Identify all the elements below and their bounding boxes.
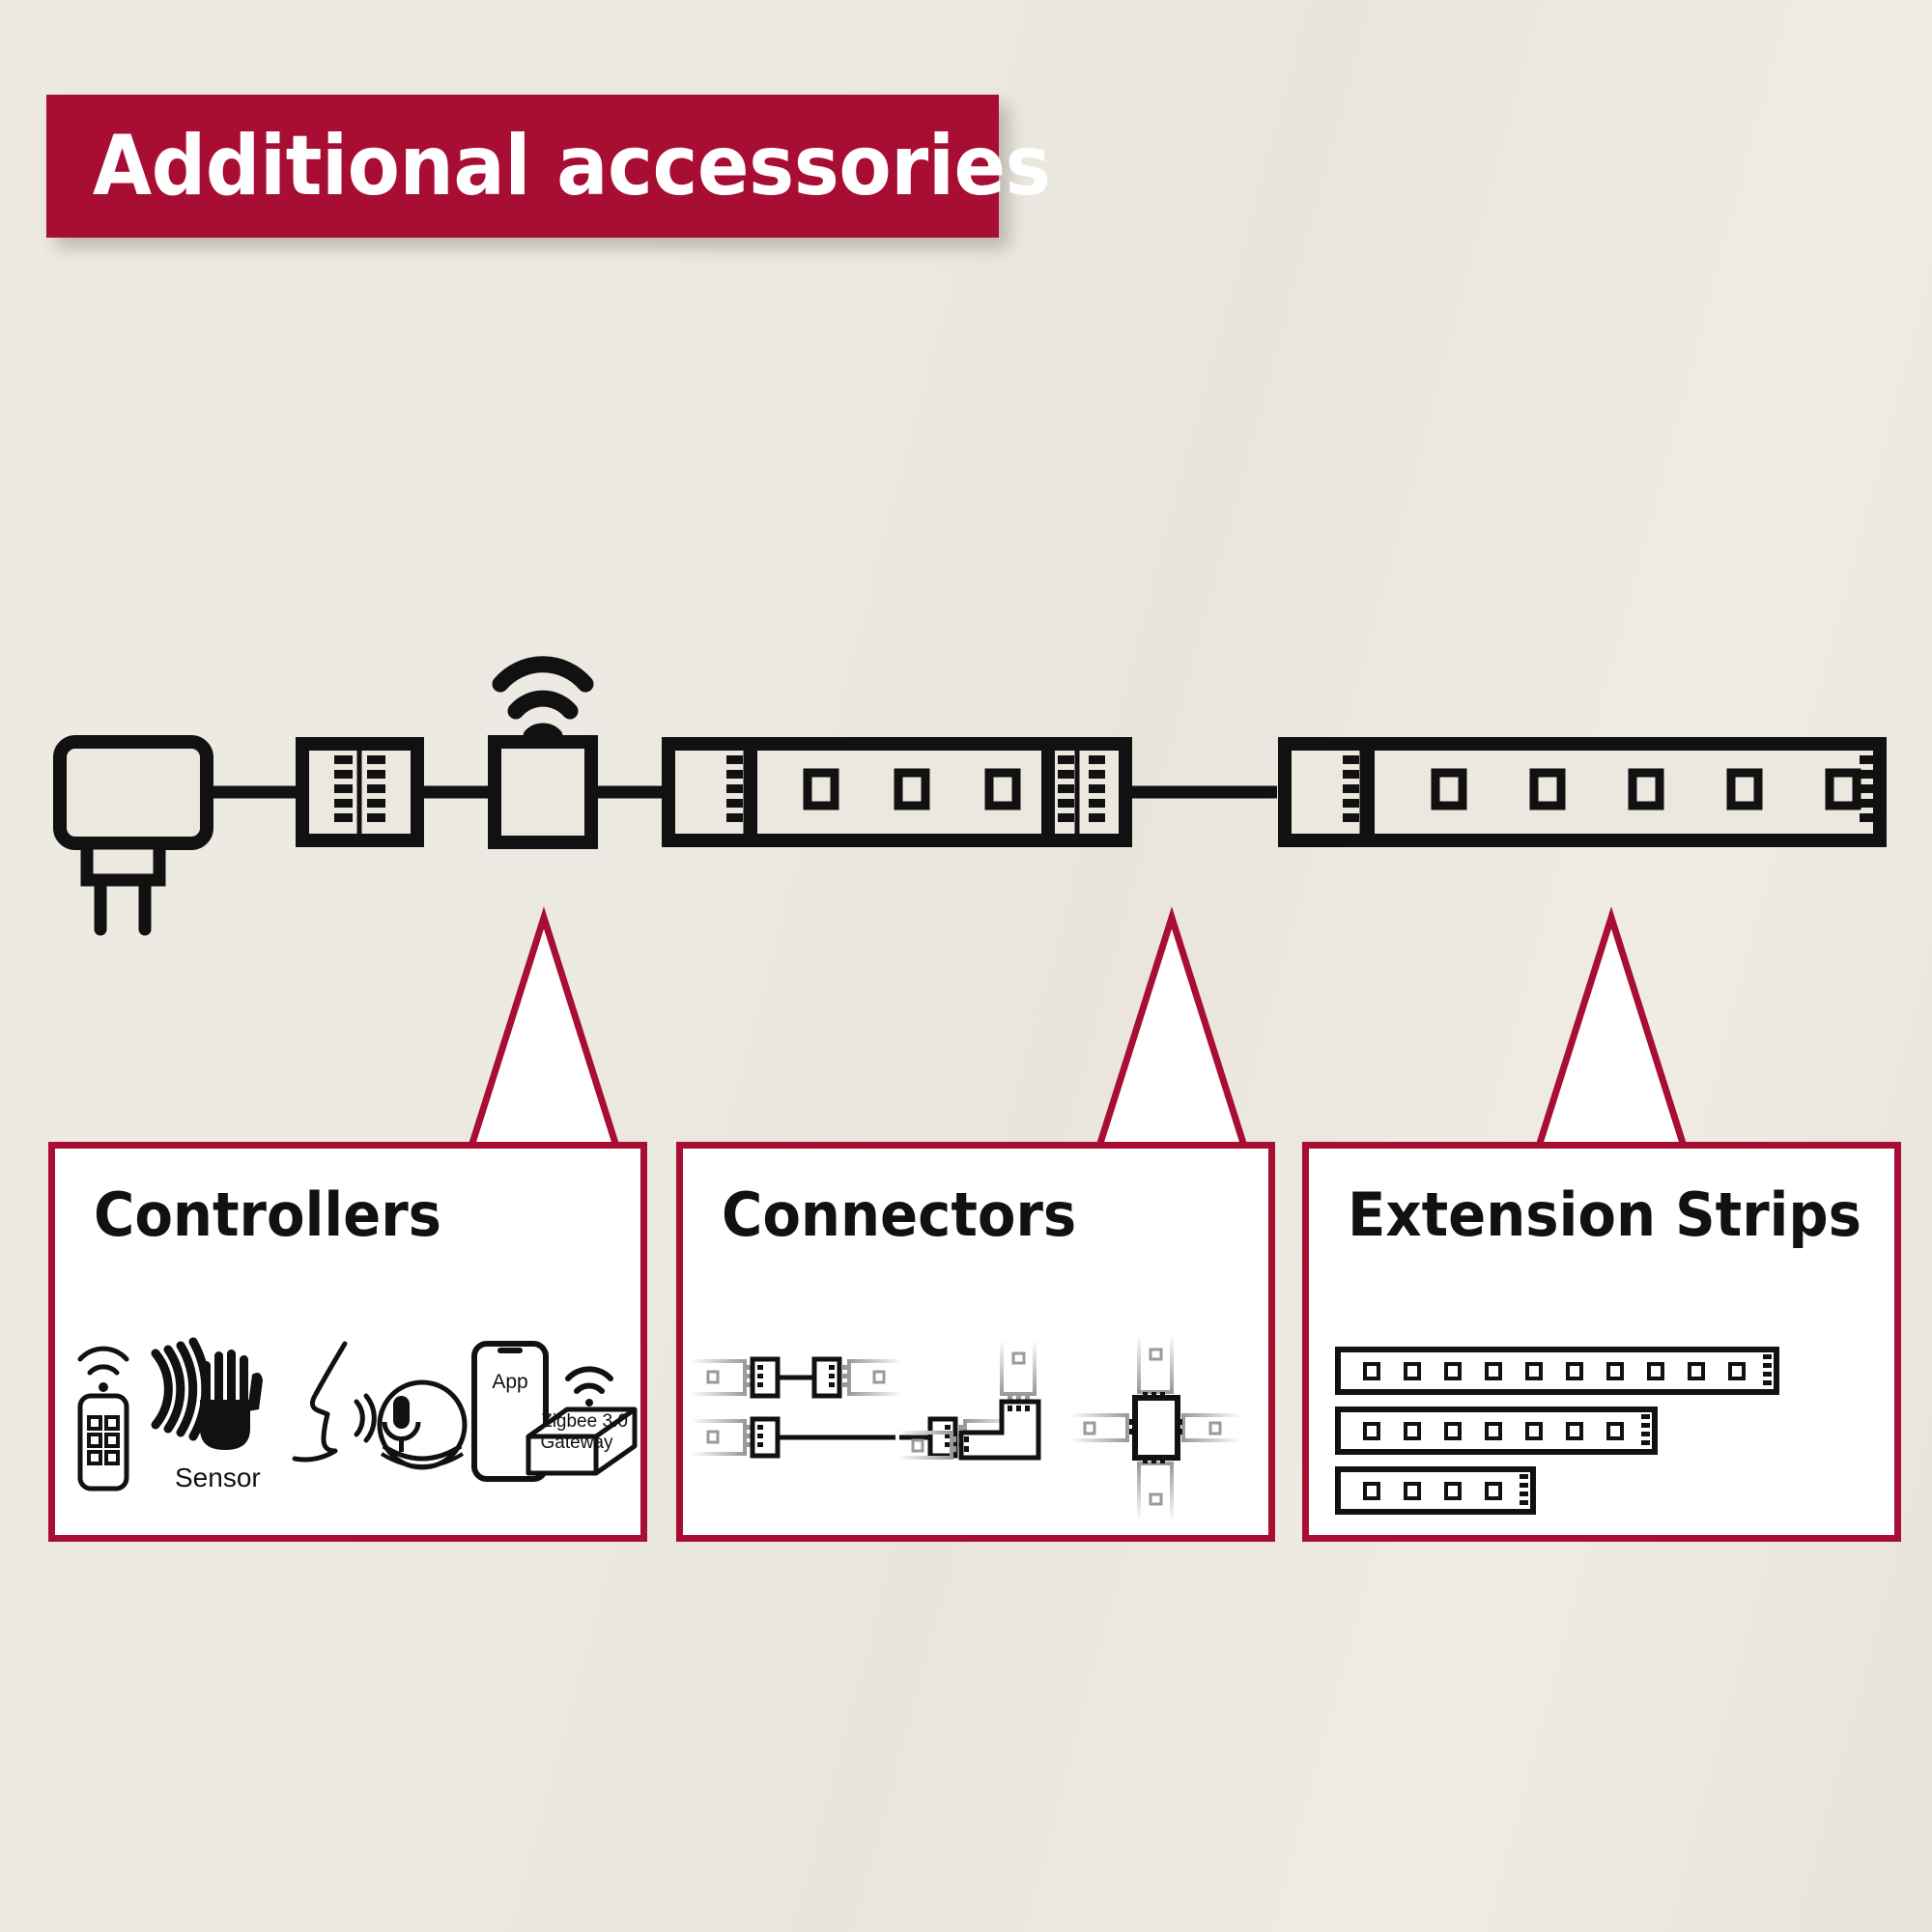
hand-icon: [200, 1350, 263, 1450]
callout-connectors[interactable]: Connectors: [676, 1142, 1275, 1542]
corner-l-connector-icon: [897, 1340, 1038, 1458]
callout-title-controllers: Controllers: [94, 1179, 441, 1250]
zigbee-line1: Zigbee 3.0: [541, 1411, 628, 1432]
callout-extension-strips[interactable]: Extension Strips: [1302, 1142, 1901, 1542]
strip-connector-1-icon: [302, 744, 417, 840]
short-jumper-connector-icon: [691, 1359, 903, 1396]
led-strip-2-icon: [1285, 744, 1880, 840]
extension-strip-medium: [1338, 1409, 1655, 1452]
wifi-icon: [500, 665, 585, 736]
extension-strip-long: [1338, 1350, 1776, 1392]
pointer-controllers: [469, 918, 619, 1155]
power-supply-icon: [60, 742, 207, 929]
connectors-icon-row: [683, 1332, 1268, 1525]
remote-control-icon: [80, 1349, 127, 1489]
callout-title-connectors: Connectors: [722, 1179, 1076, 1250]
extension-strip-short: [1338, 1469, 1533, 1512]
app-label: App: [492, 1371, 527, 1393]
page-title: Additional accessories: [46, 118, 1050, 214]
callout-controllers[interactable]: Controllers: [48, 1142, 647, 1542]
extension-strips-icon-row: [1309, 1332, 1894, 1525]
page-title-banner: Additional accessories: [46, 95, 999, 238]
controllers-icon-row: Sensor App: [55, 1332, 640, 1525]
led-strip-1-icon: [668, 744, 1125, 840]
controller-box-icon: [495, 742, 591, 842]
sensor-label: Sensor: [175, 1463, 261, 1492]
callout-pointers: [469, 918, 1687, 1155]
pointer-extension: [1536, 918, 1687, 1155]
motion-sensor-hand-icon: [156, 1342, 263, 1450]
callout-title-extension: Extension Strips: [1348, 1179, 1861, 1250]
voice-assistant-icon: [295, 1344, 465, 1467]
cross-x-connector-icon: [1069, 1334, 1241, 1521]
system-diagram: [0, 0, 1932, 1932]
zigbee-line2: Gateway: [541, 1433, 613, 1453]
pointer-connectors: [1096, 918, 1247, 1155]
